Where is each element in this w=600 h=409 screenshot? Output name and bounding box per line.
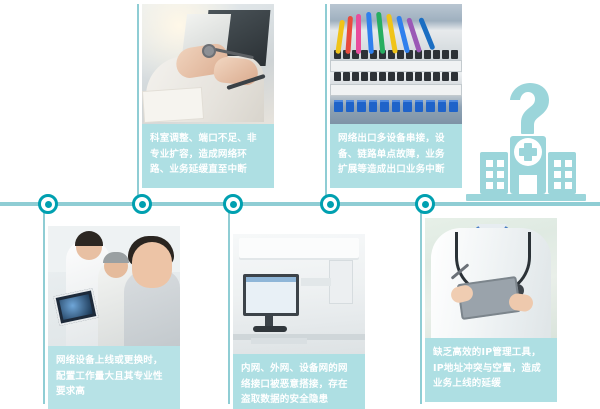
- card-connector-line: [228, 208, 230, 404]
- timeline-node-core: [139, 201, 146, 208]
- card-caption: 缺乏高效的IP管理工具，IP地址冲突与空置，造成业务上线的延缓: [425, 338, 557, 402]
- card-body: 科室调整、端口不足、非专业扩容，造成网络环路、业务延缓直至中断: [142, 4, 274, 188]
- timeline-node-1[interactable]: [38, 194, 58, 214]
- card-photo-patch-panel: [330, 4, 462, 124]
- timeline-node-core: [422, 201, 429, 208]
- card-caption: 网络设备上线或更换时，配置工作量大且其专业性要求高: [48, 346, 180, 409]
- timeline-node-core: [230, 201, 237, 208]
- card-connector-line: [420, 208, 422, 404]
- card-caption: 网络出口多设备串接，设备、链路单点故障，业务扩展等造成出口业务中断: [330, 124, 462, 188]
- card-photo-doctors-tablet: [48, 226, 180, 346]
- card-body: 内网、外网、设备网的网络接口被恶意搭接，存在盗取数据的安全隐患: [233, 234, 365, 409]
- timeline-node-core: [45, 201, 52, 208]
- card-connector-line: [137, 4, 139, 200]
- card-connector-line: [325, 4, 327, 200]
- hospital-question-icon: [458, 74, 590, 206]
- card-body: 网络出口多设备串接，设备、链路单点故障，业务扩展等造成出口业务中断: [330, 4, 462, 188]
- timeline-node-5[interactable]: [415, 194, 435, 214]
- card-photo-clinic-monitor: [233, 234, 365, 354]
- timeline-node-4[interactable]: [320, 194, 340, 214]
- timeline-node-3[interactable]: [223, 194, 243, 214]
- card-caption: 内网、外网、设备网的网络接口被恶意搭接，存在盗取数据的安全隐患: [233, 354, 365, 409]
- card-connector-line: [43, 208, 45, 404]
- card-photo-desk: [142, 4, 274, 124]
- infographic-canvas: 科室调整、端口不足、非专业扩容，造成网络环路、业务延缓直至中断: [0, 0, 600, 409]
- timeline-node-2[interactable]: [132, 194, 152, 214]
- timeline-node-core: [327, 201, 334, 208]
- card-body: 网络设备上线或更换时，配置工作量大且其专业性要求高: [48, 226, 180, 409]
- card-body: 缺乏高效的IP管理工具，IP地址冲突与空置，造成业务上线的延缓: [425, 218, 557, 402]
- card-photo-doctor-tablet: [425, 218, 557, 338]
- card-caption: 科室调整、端口不足、非专业扩容，造成网络环路、业务延缓直至中断: [142, 124, 274, 188]
